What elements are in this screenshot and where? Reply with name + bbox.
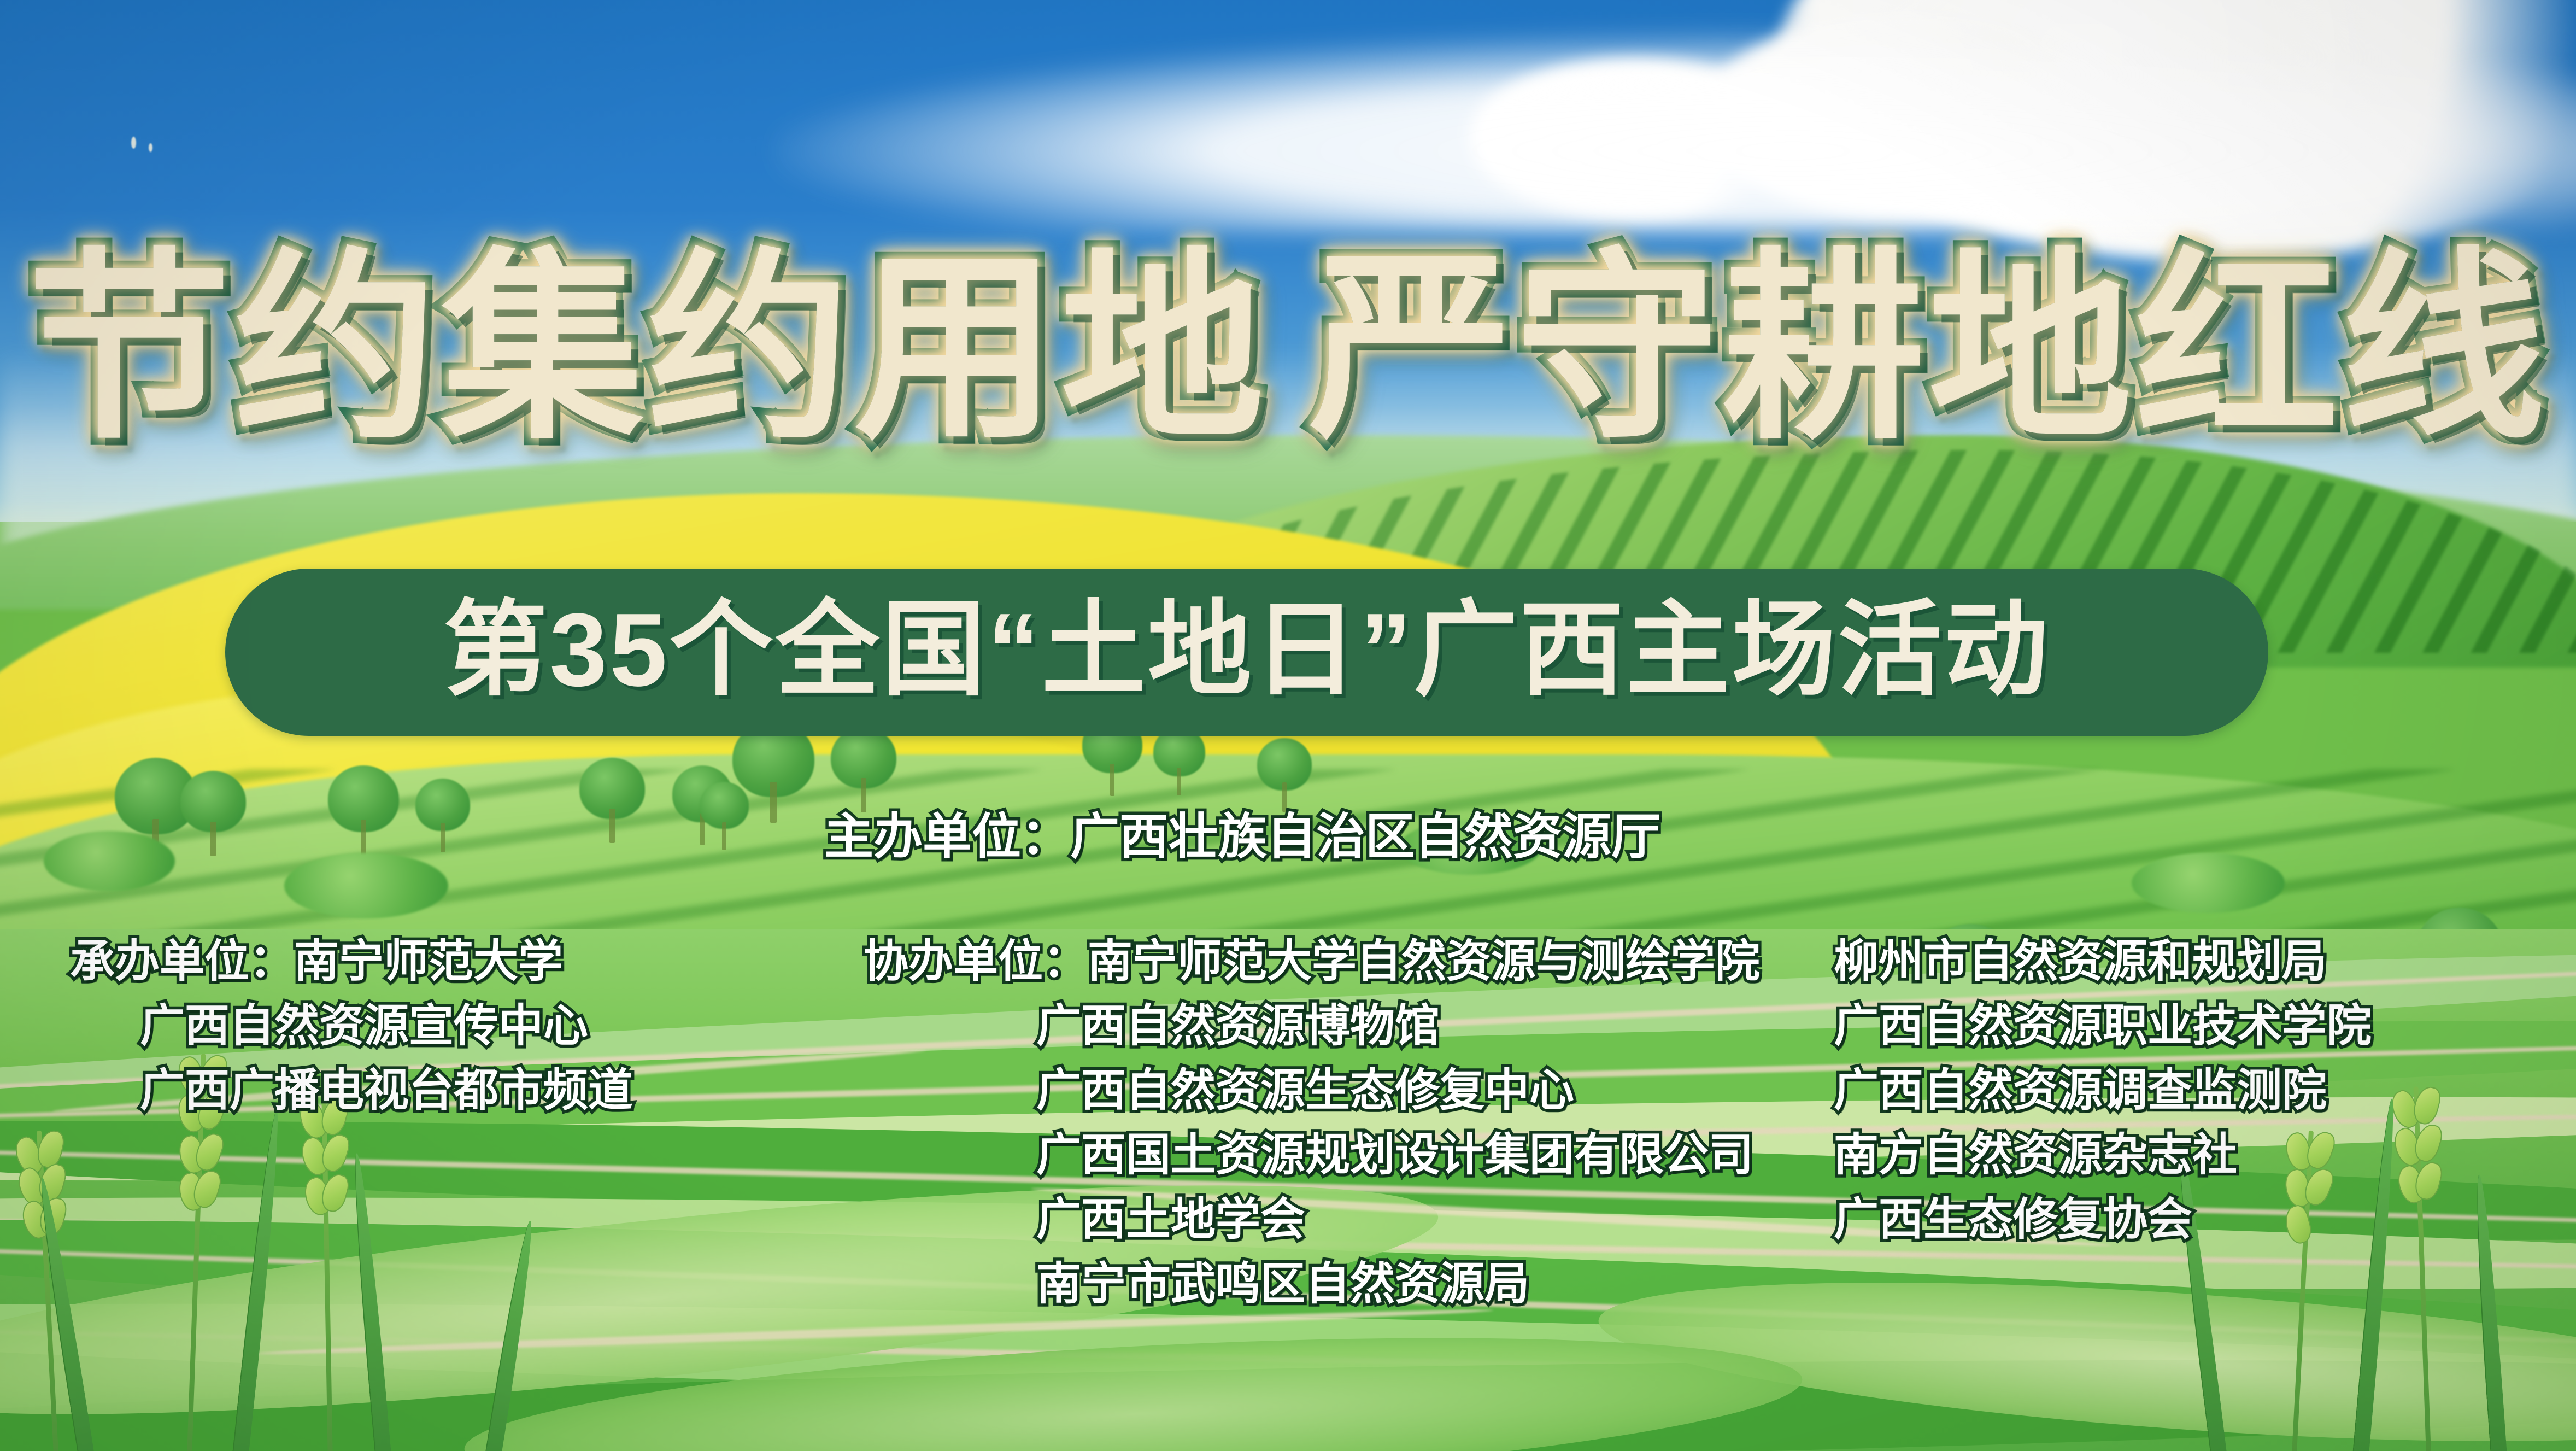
coorganizer-item: 广西自然资源博物馆 bbox=[864, 994, 1760, 1058]
coorganizer-first-line: 协办单位：南宁师范大学自然资源与测绘学院 bbox=[864, 929, 1760, 994]
coorganizer-item: 广西自然资源生态修复中心 bbox=[864, 1058, 1760, 1123]
bush bbox=[2132, 853, 2285, 913]
sparkle-icon bbox=[149, 143, 152, 152]
coorganizer-item: 广西自然资源调查监测院 bbox=[1834, 1058, 2372, 1123]
tree bbox=[831, 727, 896, 809]
coorganizer-item: 广西生态修复协会 bbox=[1834, 1187, 2372, 1252]
coorganizer-item: 广西自然资源职业技术学院 bbox=[1834, 994, 2372, 1058]
tree bbox=[180, 771, 246, 853]
coorganizer-column: 协办单位：南宁师范大学自然资源与测绘学院 广西自然资源博物馆 广西自然资源生态修… bbox=[864, 929, 1760, 1317]
wheat-stalk bbox=[300, 1097, 355, 1451]
undertaker-first-line: 承办单位：南宁师范大学 bbox=[70, 929, 633, 994]
coorganizer-item: 广西土地学会 bbox=[864, 1187, 1760, 1252]
page-title: 节约集约用地严守耕地红线 bbox=[28, 245, 2549, 452]
coorganizer-item: 南方自然资源杂志社 bbox=[1834, 1123, 2372, 1187]
subtitle-banner: 第35个全国“土地日”广西主场活动 bbox=[225, 569, 2268, 736]
coorganizer-item: 广西国土资源规划设计集团有限公司 bbox=[864, 1123, 1760, 1187]
undertaker-item: 广西自然资源宣传中心 bbox=[70, 994, 633, 1058]
main-title-phrase-2: 严守耕地红线 bbox=[1309, 235, 2549, 462]
poster-canvas: 节约集约用地严守耕地红线 第35个全国“土地日”广西主场活动 主办单位：广西壮族… bbox=[0, 0, 2576, 1451]
subtitle-text: 第35个全国“土地日”广西主场活动 bbox=[443, 598, 2050, 702]
tree bbox=[1153, 727, 1205, 793]
tree bbox=[415, 779, 470, 850]
main-title-phrase-1: 节约集约用地 bbox=[28, 235, 1268, 462]
coorganizer-item: 南宁市武鸣区自然资源局 bbox=[864, 1252, 1760, 1317]
bush bbox=[44, 831, 175, 891]
bush bbox=[284, 853, 448, 918]
undertaker-column: 承办单位：南宁师范大学 广西自然资源宣传中心 广西广播电视台都市频道 bbox=[70, 929, 633, 1123]
cloud-band bbox=[773, 29, 2576, 232]
undertaker-item: 广西广播电视台都市频道 bbox=[70, 1058, 633, 1123]
coorganizer-column-right: 柳州市自然资源和规划局 广西自然资源职业技术学院 广西自然资源调查监测院 南方自… bbox=[1834, 929, 2372, 1252]
tree bbox=[328, 765, 399, 853]
main-title-block: 节约集约用地严守耕地红线 bbox=[0, 245, 2576, 452]
sparkle-icon bbox=[131, 137, 136, 149]
tree bbox=[1257, 738, 1312, 809]
host-organizer-line: 主办单位：广西壮族自治区自然资源厅 bbox=[824, 812, 1660, 862]
coorganizer-item: 柳州市自然资源和规划局 bbox=[1834, 929, 2372, 994]
tree bbox=[579, 758, 645, 840]
